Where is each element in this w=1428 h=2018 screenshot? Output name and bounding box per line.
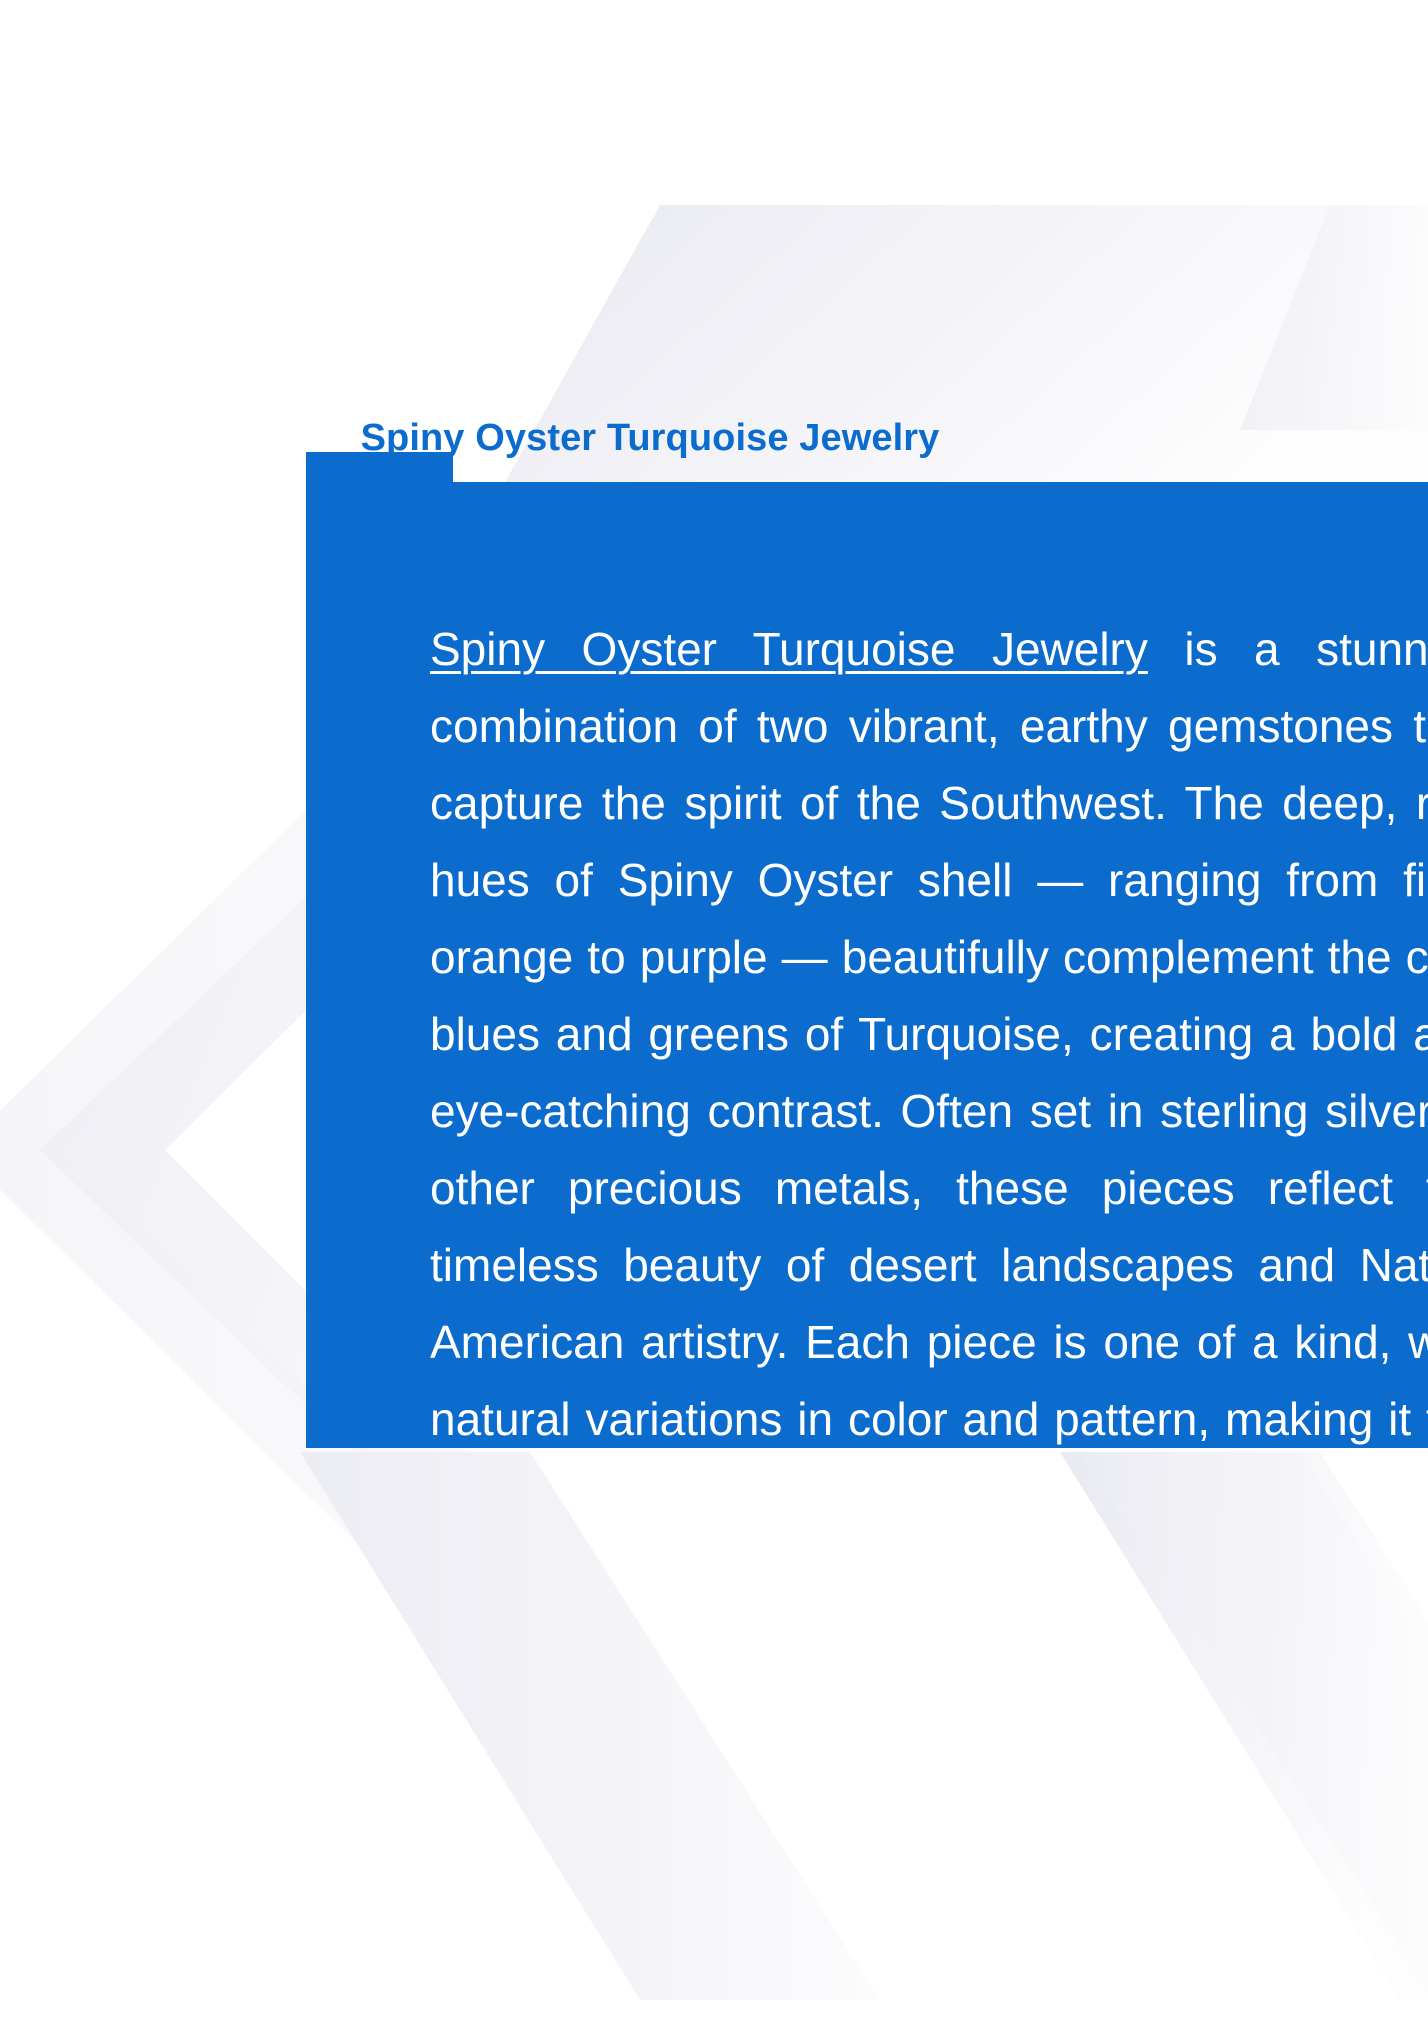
description-paragraph: Spiny Oyster Turquoise Jewelry is a stun… bbox=[430, 611, 1428, 1612]
spiny-oyster-turquoise-jewelry-link[interactable]: Spiny Oyster Turquoise Jewelry bbox=[430, 623, 1148, 675]
description-text: is a stunning combination of two vibrant… bbox=[430, 623, 1428, 1599]
content-panel: Spiny Oyster Turquoise Jewelry is a stun… bbox=[306, 452, 1428, 1448]
page-root: Spiny Oyster Turquoise Jewelry Spiny Oys… bbox=[0, 0, 1428, 2018]
page-title: Spiny Oyster Turquoise Jewelry bbox=[0, 415, 1300, 463]
